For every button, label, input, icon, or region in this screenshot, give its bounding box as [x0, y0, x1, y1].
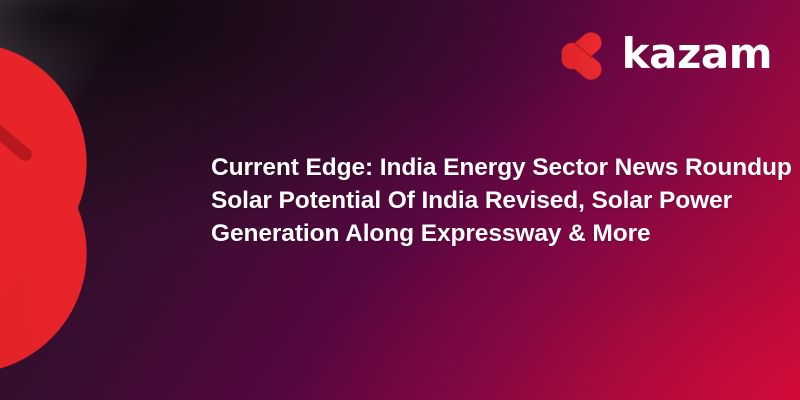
headline-line-1: Current Edge: India Energy Sector News R…: [211, 151, 756, 184]
kazam-chevron-logo-icon: [560, 29, 612, 81]
headline-line-3: Generation Along Expressway & More: [211, 217, 756, 250]
brand-wordmark: kazam: [622, 33, 772, 75]
brand-logo[interactable]: kazam: [560, 24, 772, 86]
page-title: Current Edge: India Energy Sector News R…: [211, 151, 756, 250]
headline-line-2: Solar Potential Of India Revised, Solar …: [211, 184, 756, 217]
article-hero-banner: kazam Current Edge: India Energy Sector …: [0, 0, 800, 400]
